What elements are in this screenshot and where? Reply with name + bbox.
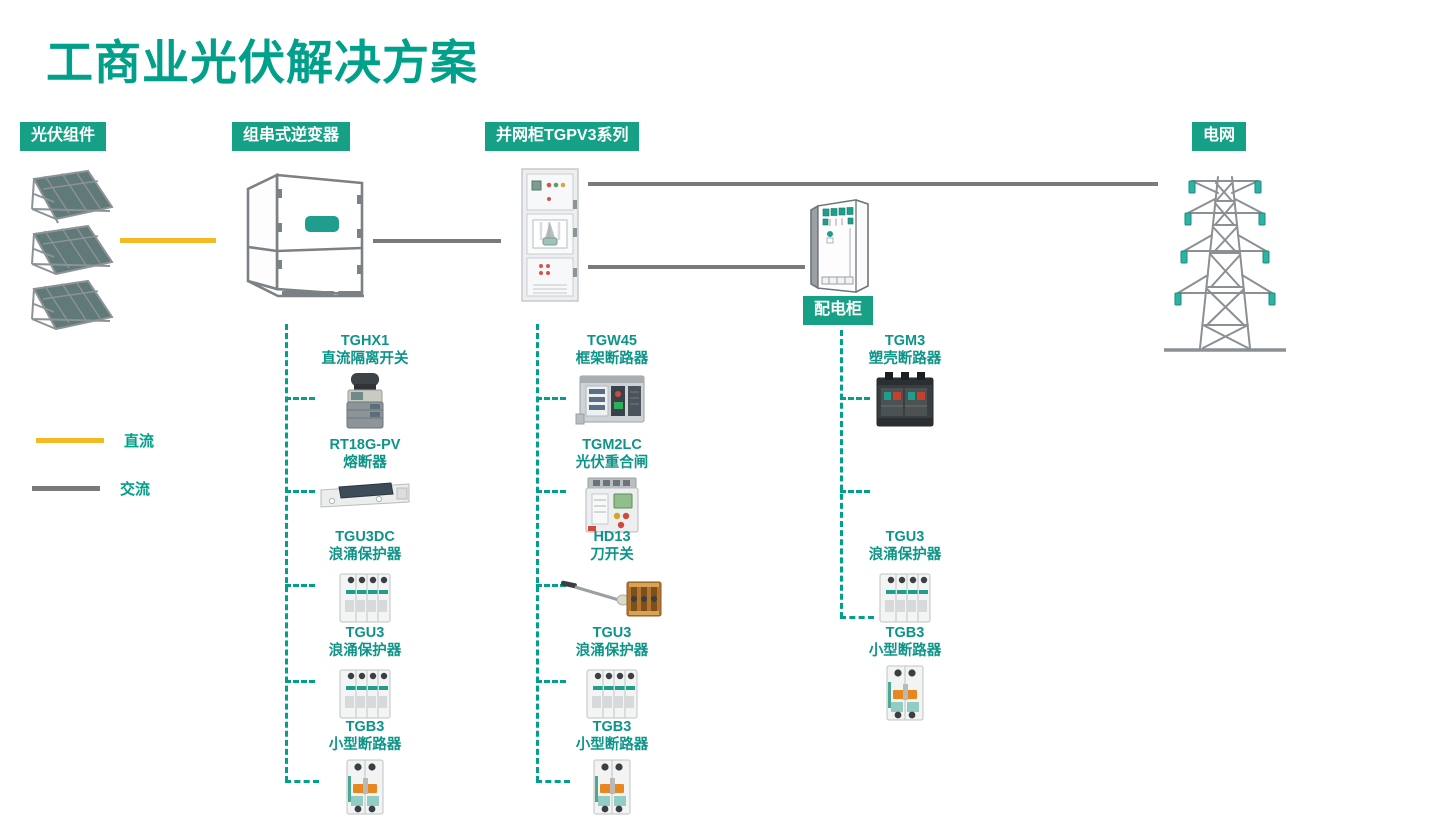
product-desc: 小型断路器: [820, 642, 990, 660]
fuse-icon: [280, 474, 450, 536]
product-code: TGHX1: [280, 332, 450, 350]
product-item[interactable]: TGB3 小型断路器: [820, 624, 990, 724]
product-item[interactable]: TGU3 浪涌保护器: [280, 624, 450, 724]
product-item[interactable]: TGW45 框架断路器: [527, 332, 697, 432]
product-item[interactable]: TGB3 小型断路器: [527, 718, 697, 818]
spine-branch-3-2: [840, 490, 870, 493]
product-code: TGB3: [280, 718, 450, 736]
miniature-circuit-breaker-icon: [527, 756, 697, 818]
dc-line-swatch: [36, 438, 104, 443]
product-item[interactable]: TGU3 浪涌保护器: [820, 528, 990, 628]
transmission-tower-icon: [1160, 165, 1290, 365]
product-desc: 光伏重合闸: [527, 454, 697, 472]
product-item[interactable]: TGB3 小型断路器: [280, 718, 450, 818]
air-circuit-breaker-icon: [527, 370, 697, 432]
ac-connection-line-inverter-to-cabinet: [373, 239, 501, 243]
page-title: 工商业光伏解决方案: [46, 24, 478, 93]
product-item[interactable]: TGM2LC 光伏重合闸: [527, 436, 697, 536]
product-desc: 浪涌保护器: [280, 642, 450, 660]
product-code: TGW45: [527, 332, 697, 350]
product-code: TGU3: [280, 624, 450, 642]
stage-label-string-inverter: 组串式逆变器: [232, 122, 350, 151]
product-code: HD13: [527, 528, 697, 546]
diagram-canvas: 工商业光伏解决方案 光伏组件 组串式逆变器 并网柜TGPV3系列 配电柜 电网: [0, 0, 1436, 829]
product-code: TGB3: [820, 624, 990, 642]
product-code: TGU3: [527, 624, 697, 642]
miniature-circuit-breaker-icon: [820, 662, 990, 724]
legend-label-ac: 交流: [120, 478, 150, 499]
product-desc: 塑壳断路器: [820, 350, 990, 368]
product-item[interactable]: TGU3 浪涌保护器: [527, 624, 697, 724]
dc-connection-line: [120, 238, 216, 243]
ac-connection-line-cabinet-to-grid: [588, 182, 1158, 186]
moulded-case-circuit-breaker-icon: [820, 370, 990, 432]
dc-isolator-switch-icon: [280, 370, 450, 432]
product-desc: 浪涌保护器: [527, 642, 697, 660]
miniature-circuit-breaker-icon: [280, 756, 450, 818]
product-desc: 浪涌保护器: [280, 546, 450, 564]
product-desc: 熔断器: [280, 454, 450, 472]
product-desc: 刀开关: [527, 546, 697, 564]
ac-line-swatch: [32, 486, 100, 491]
product-desc: 小型断路器: [280, 736, 450, 754]
product-item[interactable]: HD13 刀开关: [527, 528, 697, 628]
knife-switch-icon: [527, 566, 697, 628]
solar-panel-array-icon: [18, 165, 118, 335]
string-inverter-icon: [232, 165, 374, 310]
stage-label-pv-modules: 光伏组件: [20, 122, 106, 151]
surge-protector-icon: [527, 662, 697, 724]
product-item[interactable]: RT18G-PV 熔断器: [280, 436, 450, 536]
product-code: TGU3: [820, 528, 990, 546]
product-desc: 浪涌保护器: [820, 546, 990, 564]
stage-label-grid-cabinet: 并网柜TGPV3系列: [485, 122, 639, 151]
grid-connection-cabinet-icon: [521, 168, 579, 307]
product-code: TGB3: [527, 718, 697, 736]
product-code: TGM2LC: [527, 436, 697, 454]
pv-recloser-icon: [527, 474, 697, 536]
product-desc: 直流隔离开关: [280, 350, 450, 368]
legend-item-dc: 直流: [36, 430, 154, 451]
distribution-cabinet-icon: [810, 198, 872, 299]
product-desc: 框架断路器: [527, 350, 697, 368]
product-code: RT18G-PV: [280, 436, 450, 454]
stage-label-power-grid: 电网: [1192, 122, 1246, 151]
product-item[interactable]: TGHX1 直流隔离开关: [280, 332, 450, 432]
legend-item-ac: 交流: [32, 478, 150, 499]
stage-label-distribution-cabinet: 配电柜: [803, 296, 873, 325]
legend-label-dc: 直流: [124, 430, 154, 451]
product-code: TGM3: [820, 332, 990, 350]
surge-protector-icon: [280, 566, 450, 628]
ac-connection-line-cabinet-to-distribution: [588, 265, 805, 269]
product-item[interactable]: TGM3 塑壳断路器: [820, 332, 990, 432]
product-item[interactable]: TGU3DC 浪涌保护器: [280, 528, 450, 628]
product-desc: 小型断路器: [527, 736, 697, 754]
surge-protector-icon: [280, 662, 450, 724]
product-code: TGU3DC: [280, 528, 450, 546]
surge-protector-icon: [820, 566, 990, 628]
